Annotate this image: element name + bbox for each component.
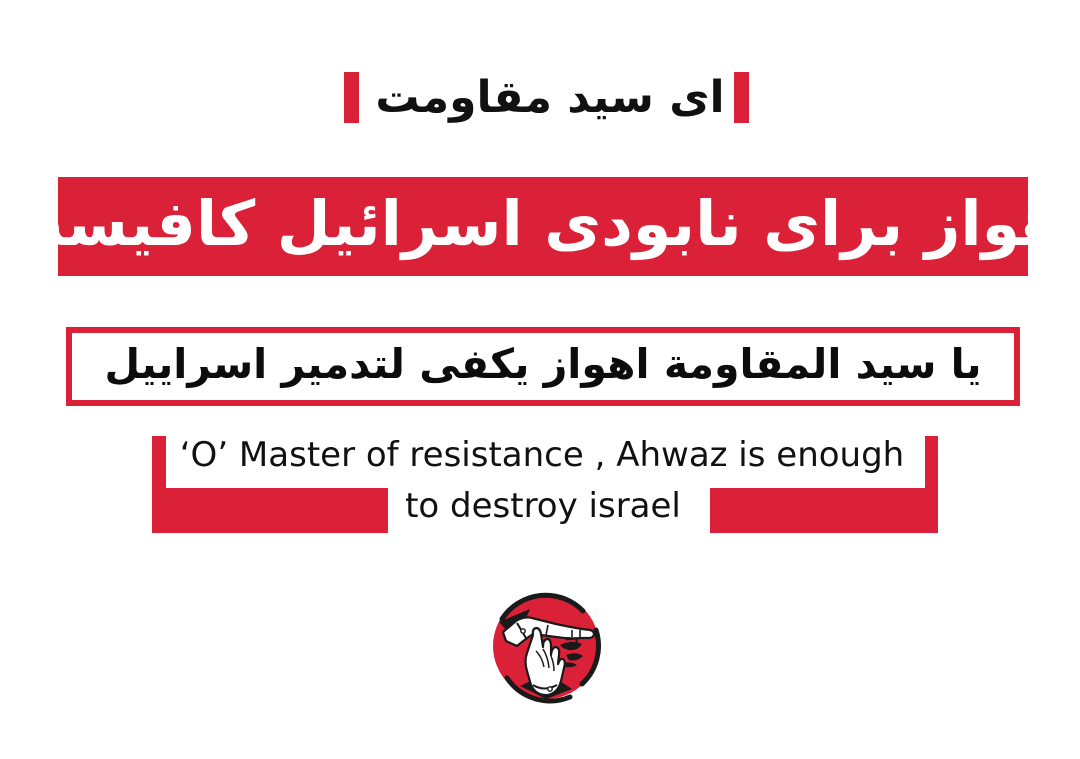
headline-text: ای سید مقاومت bbox=[370, 56, 730, 140]
headline-marker-right-icon bbox=[734, 72, 749, 123]
english-translation-text: ‘O’ Master of resistance , Ahwaz is enou… bbox=[0, 430, 1080, 532]
primary-banner: اهواز برای نابودی اسرائیل کافیست bbox=[58, 177, 1028, 276]
english-translation-area: ‘O’ Master of resistance , Ahwaz is enou… bbox=[0, 430, 1080, 545]
english-line-2: to destroy israel bbox=[0, 481, 1080, 532]
english-line-1: ‘O’ Master of resistance , Ahwaz is enou… bbox=[0, 430, 1080, 481]
resistance-hands-emblem-icon bbox=[486, 585, 606, 707]
poster-canvas: ای سید مقاومت اهواز برای نابودی اسرائیل … bbox=[0, 0, 1080, 759]
arabic-translation-box: يا سيد المقاومة اهواز يكفى لتدمير اسرايي… bbox=[66, 327, 1020, 406]
headline-marker-left-icon bbox=[344, 72, 359, 123]
headline-row: ای سید مقاومت bbox=[0, 56, 1080, 140]
primary-banner-text: اهواز برای نابودی اسرائیل کافیست bbox=[58, 177, 1028, 276]
arabic-translation-text: يا سيد المقاومة اهواز يكفى لتدمير اسرايي… bbox=[72, 333, 1014, 400]
